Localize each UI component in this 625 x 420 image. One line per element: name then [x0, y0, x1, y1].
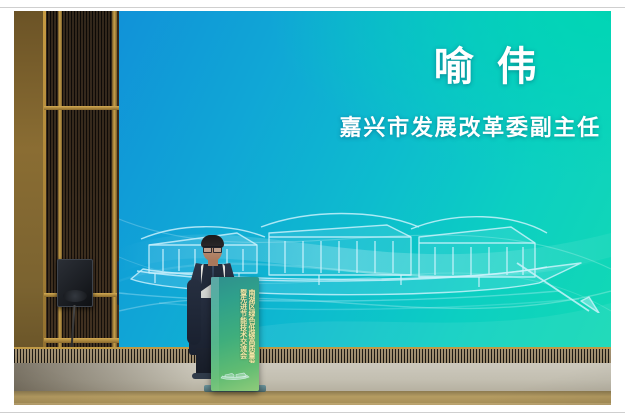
- brass-mullion-2: [112, 11, 117, 405]
- loudspeaker-icon: [57, 259, 93, 307]
- lectern-text-line-1: 南湖区绿色低碳高质量发展: [248, 289, 255, 363]
- top-divider-rule: [0, 7, 625, 8]
- wall-plaster-column: [14, 11, 46, 405]
- conference-photograph: 喻 伟 嘉兴市发展改革委副主任 南湖区绿色低碳高质: [14, 11, 611, 405]
- screenshot-page: 喻 伟 嘉兴市发展改革委副主任 南湖区绿色低碳高质: [0, 0, 625, 420]
- speaker-name-heading: 喻 伟: [434, 47, 543, 87]
- stage-floor: [14, 363, 611, 393]
- lectern-panel: 南湖区绿色低碳高质量发展 暨先进节能技术交流会: [211, 277, 259, 391]
- eyeglasses-icon: [203, 246, 222, 251]
- left-arm: [187, 279, 201, 345]
- bottom-divider-rule: [0, 412, 625, 413]
- brass-mullion-1: [58, 11, 62, 405]
- lectern-text-line-2: 暨先进节能技术交流会: [239, 289, 246, 363]
- lectern-signage: 南湖区绿色低碳高质量发展 暨先进节能技术交流会: [229, 289, 255, 363]
- lectern-boat-icon: [219, 369, 251, 381]
- speaker-title-heading: 嘉兴市发展改革委副主任: [340, 117, 601, 139]
- stage-front-face: [14, 403, 611, 405]
